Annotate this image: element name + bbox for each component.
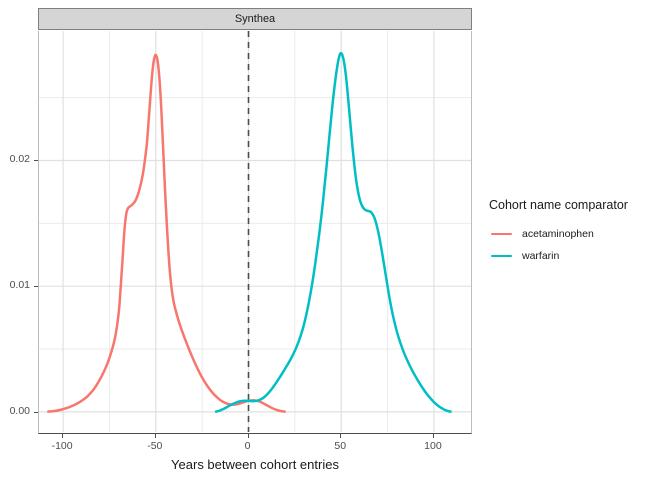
legend-items: acetaminophenwarfarin: [489, 223, 669, 267]
density-curves: [48, 53, 450, 411]
legend-item-label: acetaminophen: [522, 228, 594, 240]
legend-item-warfarin[interactable]: warfarin: [489, 245, 669, 267]
legend-line-swatch: [491, 233, 512, 235]
x-tick-label: -100: [37, 440, 87, 452]
x-tick-mark: [248, 434, 249, 438]
x-tick-label: 50: [315, 440, 365, 452]
plot-panel: [38, 31, 472, 434]
x-tick-label: 0: [223, 440, 273, 452]
x-tick-mark: [155, 434, 156, 438]
y-tick-label: 0.01: [0, 279, 30, 291]
facet-strip: Synthea: [38, 8, 472, 30]
density-plot-figure: Synthea 0.000.010.02 -100-50050100 Years…: [0, 0, 672, 480]
plot-canvas: [39, 31, 471, 432]
y-tick-mark: [34, 412, 38, 413]
y-tick-mark: [34, 286, 38, 287]
x-tick-mark: [433, 434, 434, 438]
legend-key-icon: [489, 226, 513, 243]
x-axis-title: Years between cohort entries: [38, 457, 472, 472]
legend-key-icon: [489, 248, 513, 265]
y-tick-label: 0.02: [0, 153, 30, 165]
legend: Cohort name comparator acetaminophenwarf…: [489, 198, 669, 267]
legend-line-swatch: [491, 255, 512, 257]
y-tick-label: 0.00: [0, 405, 30, 417]
x-tick-mark: [62, 434, 63, 438]
density-curve-warfarin: [216, 53, 451, 411]
facet-strip-label: Synthea: [235, 14, 275, 25]
x-tick-label: -50: [130, 440, 180, 452]
legend-item-label: warfarin: [522, 250, 559, 262]
legend-title: Cohort name comparator: [489, 198, 669, 212]
x-tick-mark: [340, 434, 341, 438]
y-tick-mark: [34, 160, 38, 161]
x-tick-label: 100: [408, 440, 458, 452]
legend-item-acetaminophen[interactable]: acetaminophen: [489, 223, 669, 245]
